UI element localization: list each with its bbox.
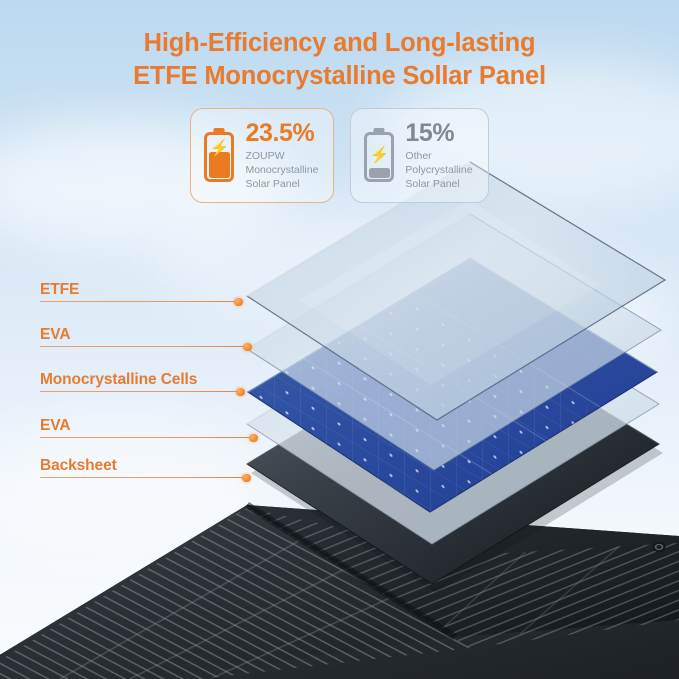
- badge-zoupw-efficiency: ⚡ 23.5% ZOUPW Monocrystalline Solar Pane…: [190, 108, 334, 203]
- grommet-eyelet-icon: [653, 542, 666, 552]
- efficiency-badges: ⚡ 23.5% ZOUPW Monocrystalline Solar Pane…: [0, 108, 679, 203]
- callout-label: EVA: [40, 326, 70, 344]
- callout-label: Backsheet: [40, 457, 117, 475]
- callout-backsheet: Backsheet: [40, 452, 640, 482]
- badge-description: Other Polycrystalline Solar Panel: [405, 149, 472, 191]
- battery-bolt-icon: ⚡: [364, 128, 394, 182]
- callout-dot: [234, 298, 243, 307]
- callout-line: [40, 346, 247, 347]
- badge-percent: 23.5%: [245, 120, 318, 147]
- badge-percent: 15%: [405, 120, 472, 147]
- callout-label: EVA: [40, 417, 70, 435]
- badge-description: ZOUPW Monocrystalline Solar Panel: [245, 149, 318, 191]
- callout-dot: [242, 474, 251, 483]
- callout-line: [40, 477, 246, 478]
- callout-monocrystalline-cells: Monocrystalline Cells: [40, 366, 640, 396]
- battery-bolt-icon: ⚡: [204, 128, 234, 182]
- callout-line: [40, 437, 253, 438]
- callout-etfe: ETFE: [40, 276, 640, 306]
- callout-line: [40, 391, 240, 392]
- callout-label: ETFE: [40, 281, 79, 299]
- callout-eva-lower: EVA: [40, 412, 640, 442]
- callout-dot: [249, 434, 258, 443]
- badge-other-efficiency: ⚡ 15% Other Polycrystalline Solar Panel: [350, 108, 488, 203]
- page-title: High-Efficiency and Long-lasting ETFE Mo…: [0, 27, 679, 94]
- callout-line: [40, 301, 238, 302]
- callout-dot: [236, 388, 245, 397]
- callout-dot: [243, 343, 252, 352]
- callout-label: Monocrystalline Cells: [40, 371, 197, 389]
- callout-eva-upper: EVA: [40, 321, 640, 351]
